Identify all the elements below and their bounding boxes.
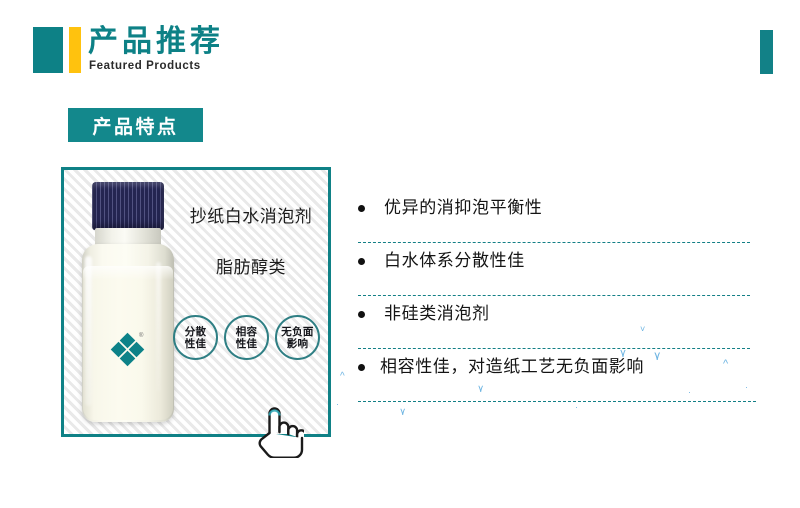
- brand-diamond-logo-icon: ®: [112, 334, 144, 366]
- product-subtitle: 脂肪醇类: [176, 253, 326, 278]
- section-tag-label: 产品特点: [92, 112, 178, 139]
- feature-text: 优异的消抑泡平衡性: [384, 193, 542, 218]
- pointing-hand-icon: [252, 402, 304, 458]
- badge-line-1: 无负面: [281, 326, 313, 338]
- feature-text: 白水体系分散性佳: [384, 246, 525, 271]
- water-droplet-icon: ·: [575, 403, 578, 412]
- bullet-icon: [358, 311, 365, 318]
- bottle-highlight-right: [156, 262, 161, 392]
- header-accent-block-yellow: [69, 27, 81, 73]
- product-feature-page: 产品推荐 Featured Products 产品特点 ® 抄纸白水消泡剂 脂肪…: [0, 0, 800, 508]
- water-droplet-icon: ۷: [400, 408, 405, 417]
- water-droplet-icon: ·: [336, 400, 339, 409]
- badge-line-2: 性佳: [185, 338, 207, 350]
- bottle-cap: [92, 182, 164, 230]
- product-badge-compatibility: 相容 性佳: [224, 315, 269, 360]
- badge-line-2: 影响: [287, 338, 309, 350]
- product-image-card: ® 抄纸白水消泡剂 脂肪醇类 分散 性佳 相容 性佳 无负面 影响: [61, 167, 331, 437]
- product-badge-no-negative-impact: 无负面 影响: [275, 315, 320, 360]
- water-droplet-icon: ^: [340, 372, 345, 381]
- product-bottle-image: ®: [76, 182, 186, 427]
- feature-list: 优异的消抑泡平衡性 白水体系分散性佳 非硅类消泡剂 相容性佳，对造纸工艺无负面影…: [358, 190, 758, 402]
- bottle-highlight-left: [85, 256, 92, 406]
- feature-item: 非硅类消泡剂: [358, 296, 758, 349]
- bullet-icon: [358, 364, 365, 371]
- feature-divider: [358, 401, 756, 402]
- bullet-icon: [358, 205, 365, 212]
- bullet-icon: [358, 258, 365, 265]
- section-tag-product-features: 产品特点: [68, 108, 203, 142]
- page-title: 产品推荐: [88, 24, 224, 60]
- header-accent-block-teal: [33, 27, 63, 73]
- header-right-accent-bar: [760, 30, 773, 74]
- feature-item: 相容性佳，对造纸工艺无负面影响: [358, 349, 758, 402]
- feature-item: 白水体系分散性佳: [358, 243, 758, 296]
- product-badge-dispersion: 分散 性佳: [173, 315, 218, 360]
- feature-text: 非硅类消泡剂: [384, 299, 490, 324]
- badge-line-1: 相容: [236, 326, 258, 338]
- trademark-mark: ®: [139, 333, 143, 339]
- badge-line-1: 分散: [185, 326, 207, 338]
- page-subtitle: Featured Products: [89, 60, 201, 72]
- product-badge-group: 分散 性佳 相容 性佳 无负面 影响: [173, 315, 320, 360]
- badge-line-2: 性佳: [236, 338, 258, 350]
- product-name: 抄纸白水消泡剂: [176, 202, 326, 227]
- feature-text: 相容性佳，对造纸工艺无负面影响: [380, 352, 644, 377]
- feature-item: 优异的消抑泡平衡性: [358, 190, 758, 243]
